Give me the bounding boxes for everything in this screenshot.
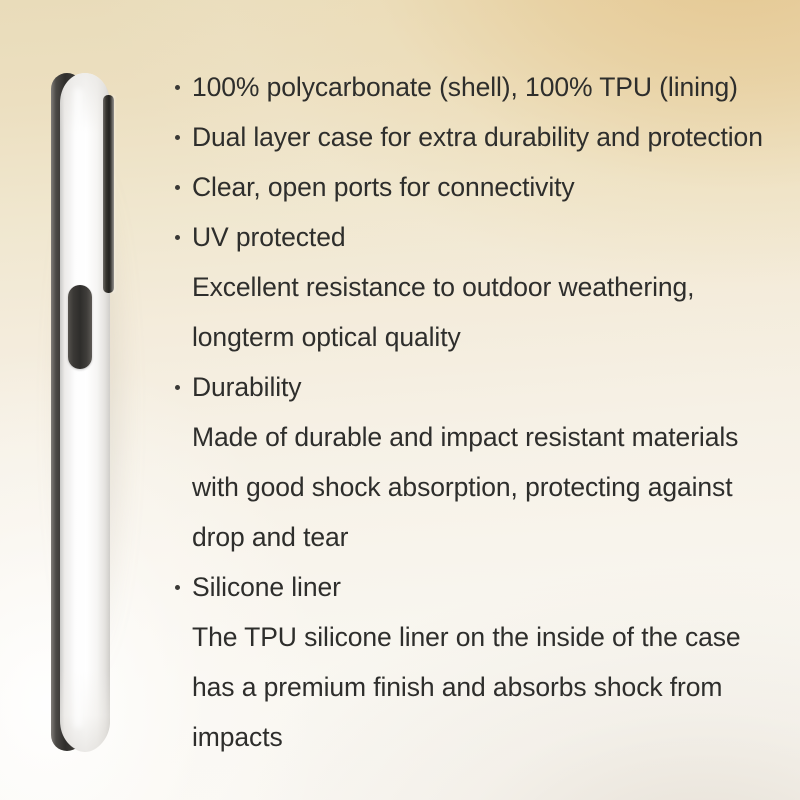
feature-bullet-line: Clear, open ports for connectivity (170, 162, 782, 212)
feature-item: Clear, open ports for connectivity (170, 162, 782, 212)
bullet-dot-icon (175, 85, 180, 90)
feature-bullet-line: UV protected (170, 212, 782, 262)
feature-item: Dual layer case for extra durability and… (170, 112, 782, 162)
feature-item: UV protected Excellent resistance to out… (170, 212, 782, 362)
bullet-dot-icon (175, 135, 180, 140)
screen-edge-highlight (112, 95, 116, 293)
feature-bullet-text: UV protected (192, 222, 345, 252)
bullet-dot-icon (175, 385, 180, 390)
feature-detail-line: has a premium finish and absorbs shock f… (170, 662, 782, 712)
feature-detail-line: The TPU silicone liner on the inside of … (170, 612, 782, 662)
bullet-dot-icon (175, 585, 180, 590)
feature-bullet-text: Silicone liner (192, 572, 341, 602)
phone-case-product-image (36, 58, 166, 758)
feature-bullet-text: Clear, open ports for connectivity (192, 172, 575, 202)
feature-item: 100% polycarbonate (shell), 100% TPU (li… (170, 62, 782, 112)
feature-detail-line: Made of durable and impact resistant mat… (170, 412, 782, 462)
case-bottom-cap (60, 670, 110, 752)
feature-bullet-line: Durability (170, 362, 782, 412)
feature-detail-line: impacts (170, 712, 782, 762)
feature-bullet-text: Durability (192, 372, 301, 402)
feature-detail-line: with good shock absorption, protecting a… (170, 462, 782, 512)
shell-gloss-highlight (72, 88, 85, 728)
feature-bullet-line: 100% polycarbonate (shell), 100% TPU (li… (170, 62, 782, 112)
feature-detail-line: drop and tear (170, 512, 782, 562)
bullet-dot-icon (175, 235, 180, 240)
feature-detail-line: longterm optical quality (170, 312, 782, 362)
product-feature-graphic: 100% polycarbonate (shell), 100% TPU (li… (0, 0, 800, 800)
feature-list: 100% polycarbonate (shell), 100% TPU (li… (170, 62, 782, 762)
feature-bullet-text: Dual layer case for extra durability and… (192, 122, 763, 152)
feature-item: Silicone liner The TPU silicone liner on… (170, 562, 782, 762)
feature-bullet-text: 100% polycarbonate (shell), 100% TPU (li… (192, 72, 738, 102)
bullet-dot-icon (175, 185, 180, 190)
feature-bullet-line: Silicone liner (170, 562, 782, 612)
feature-item: Durability Made of durable and impact re… (170, 362, 782, 562)
feature-bullet-line: Dual layer case for extra durability and… (170, 112, 782, 162)
phone-side-button (68, 285, 92, 369)
feature-detail-line: Excellent resistance to outdoor weatheri… (170, 262, 782, 312)
